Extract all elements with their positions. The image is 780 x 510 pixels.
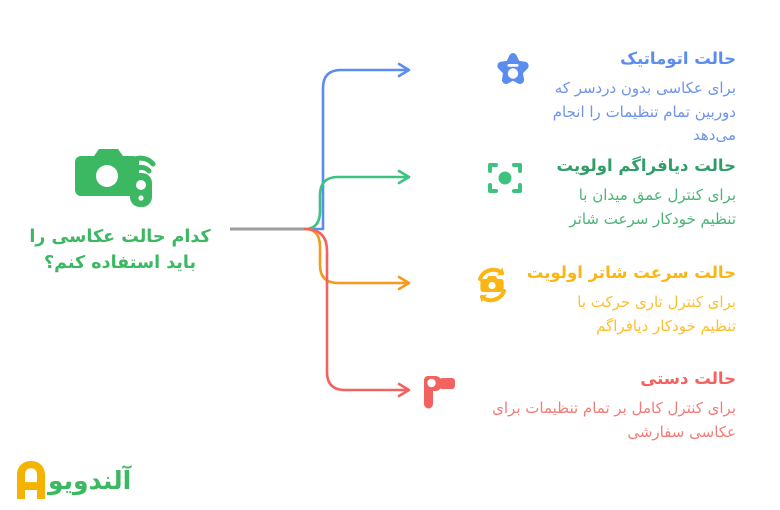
root-title: کدام حالت عکاسی را باید استفاده کنم؟ [0, 224, 240, 277]
branch-aperture[interactable]: حالت دیافراگم اولویت برای کنترل عمق میدا… [484, 155, 736, 231]
branch-arrow-shutter [399, 277, 409, 289]
branch-aperture-heading: حالت دیافراگم اولویت [540, 155, 736, 177]
branch-manual-body: برای کنترل کامل بر تمام تنظیمات برای عکا… [474, 397, 736, 444]
branch-shutter-text: حالت سرعت شاتر اولویت برای کنترل تاری حر… [527, 262, 736, 338]
branch-auto-text: حالت اتوماتیک برای عکاسی بدون دردسر که د… [548, 48, 736, 147]
branch-shutter[interactable]: حالت سرعت شاتر اولویت برای کنترل تاری حر… [471, 262, 736, 338]
branch-manual-heading: حالت دستی [474, 368, 736, 390]
focus-frame-icon [484, 157, 526, 199]
branch-arrow-auto [399, 64, 409, 76]
branch-shutter-body: برای کنترل تاری حرکت با تنظیم خودکار دیا… [540, 291, 736, 338]
root-node: کدام حالت عکاسی را باید استفاده کنم؟ [0, 140, 240, 277]
camera-remote-icon [75, 140, 165, 210]
letter-a-mark [14, 460, 48, 500]
branch-manual[interactable]: حالت دستی برای کنترل کامل بر تمام تنظیما… [418, 368, 736, 444]
branch-aperture-text: حالت دیافراگم اولویت برای کنترل عمق میدا… [540, 155, 736, 231]
branch-line-manual [305, 229, 405, 390]
site-logo[interactable]: آلندویو [14, 460, 134, 500]
branch-line-shutter [305, 229, 405, 283]
logo-wordmark: آلندویو [48, 468, 131, 493]
camcorder-icon [418, 370, 460, 412]
branch-arrow-manual [399, 384, 409, 396]
star-aperture-icon [492, 50, 534, 92]
branch-auto-heading: حالت اتوماتیک [548, 48, 736, 70]
branch-line-aperture [305, 177, 405, 229]
branch-aperture-body: برای کنترل عمق میدان با تنظیم خودکار سرع… [540, 184, 736, 231]
branch-shutter-heading: حالت سرعت شاتر اولویت [527, 262, 736, 284]
infographic-canvas: کدام حالت عکاسی را باید استفاده کنم؟ حال… [0, 0, 780, 510]
branch-auto-body: برای عکاسی بدون دردسر که دوربین تمام تنظ… [548, 77, 736, 147]
branch-arrow-aperture [399, 171, 409, 183]
branch-auto[interactable]: حالت اتوماتیک برای عکاسی بدون دردسر که د… [492, 48, 736, 147]
branch-manual-text: حالت دستی برای کنترل کامل بر تمام تنظیما… [474, 368, 736, 444]
camera-refresh-icon [471, 264, 513, 306]
branch-line-auto [305, 70, 405, 229]
